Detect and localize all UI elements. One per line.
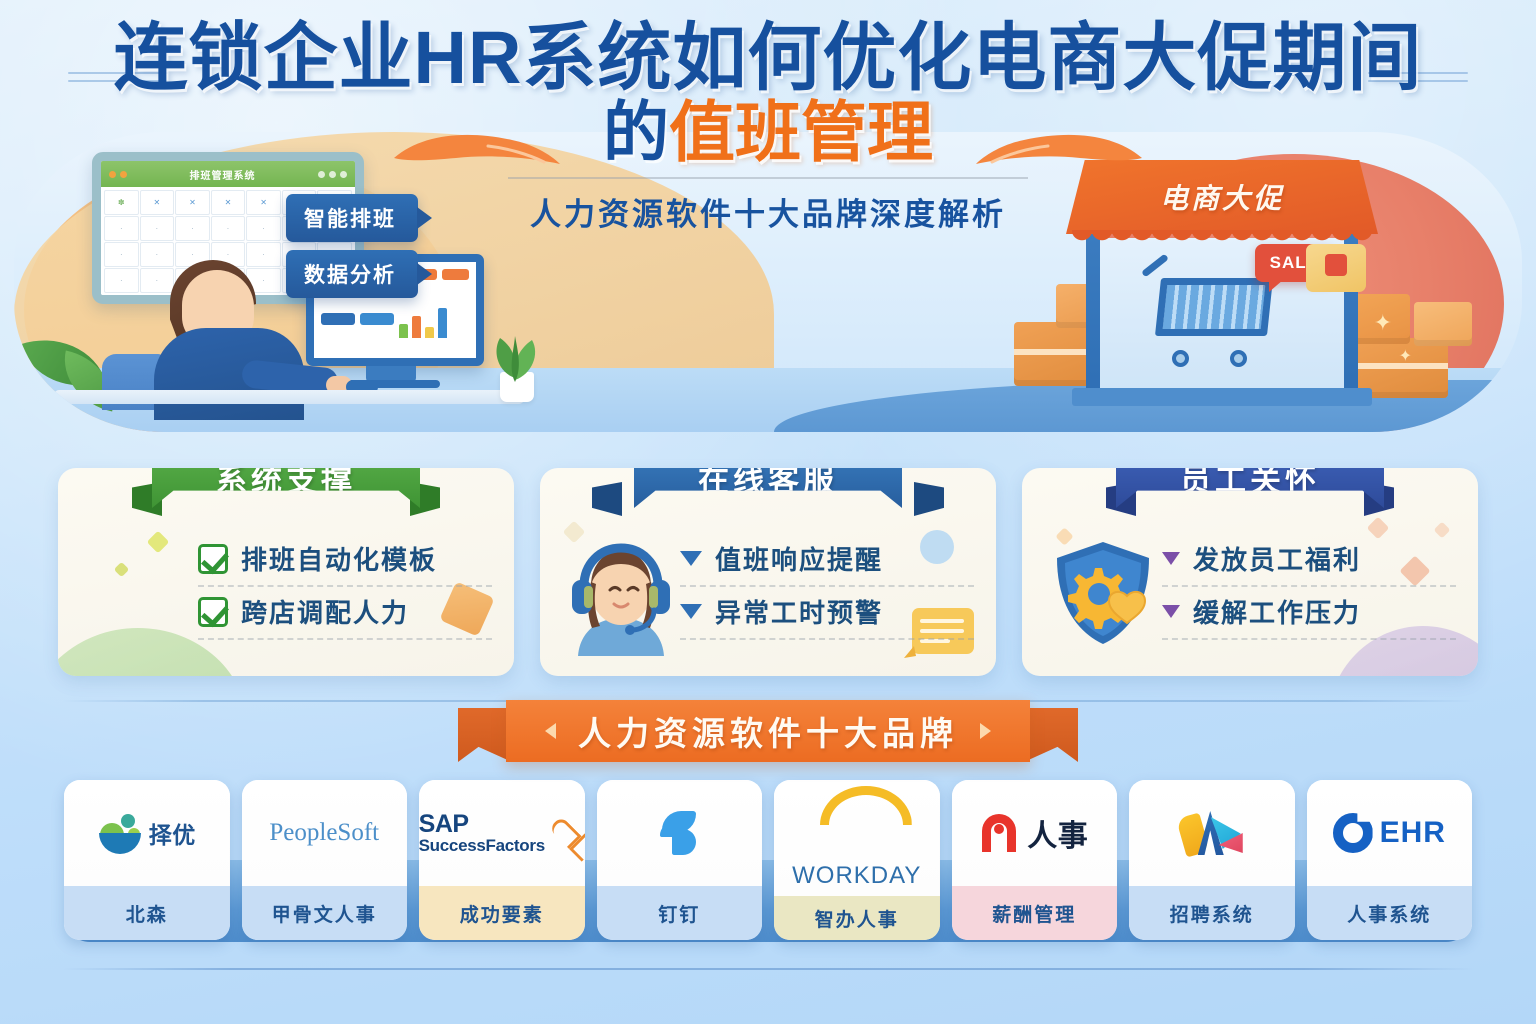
bullet-text: 异常工时预警 bbox=[715, 593, 883, 630]
workday-arc-icon bbox=[820, 786, 894, 860]
desk-surface bbox=[54, 390, 524, 404]
title-line2-highlight: 值班管理 bbox=[669, 95, 933, 169]
brand-logo: WORKDAY bbox=[774, 780, 940, 896]
card-bullets-3: 发放员工福利 缓解工作压力 bbox=[1162, 532, 1456, 640]
beisen-logo-icon bbox=[98, 811, 142, 855]
card-title-care: 员工关怀 bbox=[1116, 468, 1384, 508]
banner-text: 人力资源软件十大品牌 bbox=[578, 707, 958, 755]
shopping-cart-icon bbox=[1158, 278, 1282, 370]
ribbon-wing-right-2 bbox=[914, 482, 944, 516]
brand-label: 北森 bbox=[64, 886, 230, 940]
brand-card[interactable]: EHR 人事系统 bbox=[1307, 780, 1473, 940]
brand-logo-text: EHR bbox=[1380, 816, 1446, 850]
brand-label: 钉钉 bbox=[597, 886, 763, 940]
brand-logo: 人事 bbox=[952, 780, 1118, 886]
bullet-row: 排班自动化模板 bbox=[198, 534, 492, 587]
bullet-row: 缓解工作压力 bbox=[1162, 587, 1456, 640]
brand-card[interactable]: 钉钉 bbox=[597, 780, 763, 940]
sparkle-icon-1: ✦ bbox=[1374, 310, 1392, 336]
checkbox-icon bbox=[198, 597, 228, 627]
brand-label: 人事系统 bbox=[1307, 886, 1473, 940]
feature-cards: 系统支撑 排班自动化模板 跨店调配人力 在线客服 bbox=[58, 468, 1478, 676]
bullet-text: 值班响应提醒 bbox=[715, 540, 883, 577]
triangle-bullet-icon bbox=[680, 551, 702, 566]
card-bullets-2: 值班响应提醒 异常工时预警 bbox=[680, 532, 974, 640]
moka-logo-icon bbox=[1181, 809, 1243, 857]
card-title-system: 系统支撑 bbox=[152, 468, 420, 508]
banner-arrow-right-icon bbox=[980, 723, 991, 739]
bullet-text: 发放员工福利 bbox=[1193, 540, 1361, 577]
renshi-logo-icon bbox=[980, 812, 1020, 854]
banner-body: 人力资源软件十大品牌 bbox=[506, 700, 1030, 762]
bullet-row: 异常工时预警 bbox=[680, 587, 974, 640]
brand-logo: EHR bbox=[1307, 780, 1473, 886]
card-icon-slot-3 bbox=[1044, 532, 1162, 650]
brand-logo bbox=[597, 780, 763, 886]
brand-label: 甲骨文人事 bbox=[242, 886, 408, 940]
bullet-row: 发放员工福利 bbox=[1162, 534, 1456, 587]
brand-logo: PeopleSoft bbox=[242, 780, 408, 886]
workday-logo-text: WORKDAY bbox=[792, 862, 921, 890]
card-icon-slot-2 bbox=[562, 532, 680, 656]
title-divider bbox=[508, 177, 1028, 179]
brands-banner: 人力资源软件十大品牌 bbox=[458, 700, 1078, 770]
page-title-line2: 的值班管理 bbox=[0, 99, 1536, 166]
bullet-text: 缓解工作压力 bbox=[1193, 593, 1361, 630]
bullet-row: 值班响应提醒 bbox=[680, 534, 974, 587]
sparkle-icon-2: ✦ bbox=[1399, 346, 1412, 366]
title-line2-prefix: 的 bbox=[603, 95, 669, 169]
brand-logo: 择优 bbox=[64, 780, 230, 886]
brand-label: 薪酬管理 bbox=[952, 886, 1118, 940]
ehr-ring-icon bbox=[1333, 813, 1373, 853]
brand-label: 智办人事 bbox=[774, 896, 940, 940]
bullet-text: 跨店调配人力 bbox=[241, 593, 409, 630]
triangle-bullet-icon bbox=[1162, 552, 1180, 565]
brand-card[interactable]: 择优 北森 bbox=[64, 780, 230, 940]
heart-icon bbox=[555, 820, 585, 847]
brand-label: 成功要素 bbox=[419, 886, 585, 940]
parcel-box-6 bbox=[1414, 302, 1472, 346]
brand-logo bbox=[1129, 780, 1295, 886]
shield-gear-heart-icon bbox=[1049, 538, 1157, 650]
brand-logo-text: 人事 bbox=[1027, 811, 1088, 855]
bullet-row: 跨店调配人力 bbox=[198, 587, 492, 640]
brand-card[interactable]: WORKDAY 智办人事 bbox=[774, 780, 940, 940]
triangle-bullet-icon bbox=[680, 604, 702, 619]
card-title-service: 在线客服 bbox=[634, 468, 902, 508]
shop-floor bbox=[1072, 388, 1372, 406]
hero-tag-2: 数据分析 bbox=[286, 250, 418, 298]
card-icon-slot-1 bbox=[80, 532, 198, 538]
headset-agent-icon bbox=[566, 538, 676, 656]
price-tag-icon bbox=[1306, 244, 1366, 292]
banner-tail-right bbox=[1024, 708, 1078, 762]
checkbox-icon bbox=[198, 544, 228, 574]
banner-tail-left bbox=[458, 708, 512, 762]
feature-card-system: 系统支撑 排班自动化模板 跨店调配人力 bbox=[58, 468, 514, 676]
brand-card[interactable]: 人事 薪酬管理 bbox=[952, 780, 1118, 940]
plant-icon bbox=[484, 328, 546, 404]
sap-logo-text: SAP bbox=[419, 811, 469, 837]
banner-arrow-left-icon bbox=[545, 723, 556, 739]
brand-card[interactable]: SAP SuccessFactors 成功要素 bbox=[419, 780, 585, 940]
brand-grid: 择优 北森 PeopleSoft 甲骨文人事 SAP SuccessFactor… bbox=[64, 780, 1472, 940]
dingtalk-logo-icon bbox=[658, 809, 700, 857]
page-title: 连锁企业HR系统如何优化电商大促期间 bbox=[0, 20, 1536, 95]
brand-card[interactable]: 招聘系统 bbox=[1129, 780, 1295, 940]
brand-label: 招聘系统 bbox=[1129, 886, 1295, 940]
successfactors-logo-text: SuccessFactors bbox=[419, 837, 545, 855]
feature-card-service: 在线客服 bbox=[540, 468, 996, 676]
brand-card[interactable]: PeopleSoft 甲骨文人事 bbox=[242, 780, 408, 940]
ribbon-wing-left-2 bbox=[592, 482, 622, 516]
feature-card-care: 员工关怀 发放员工福利 bbox=[1022, 468, 1478, 676]
card-bullets-1: 排班自动化模板 跨店调配人力 bbox=[198, 532, 492, 640]
brand-logo-text: 择优 bbox=[149, 816, 196, 850]
title-block: 连锁企业HR系统如何优化电商大促期间 的值班管理 人力资源软件十大品牌深度解析 bbox=[0, 20, 1536, 234]
shop-post-left bbox=[1086, 234, 1100, 394]
triangle-bullet-icon bbox=[1162, 605, 1180, 618]
section-divider-bottom bbox=[62, 968, 1474, 970]
page-subtitle: 人力资源软件十大品牌深度解析 bbox=[0, 189, 1536, 234]
peoplesoft-logo-text: PeopleSoft bbox=[269, 819, 379, 847]
brand-logo: SAP SuccessFactors bbox=[419, 780, 585, 886]
bullet-text: 排班自动化模板 bbox=[241, 540, 437, 577]
